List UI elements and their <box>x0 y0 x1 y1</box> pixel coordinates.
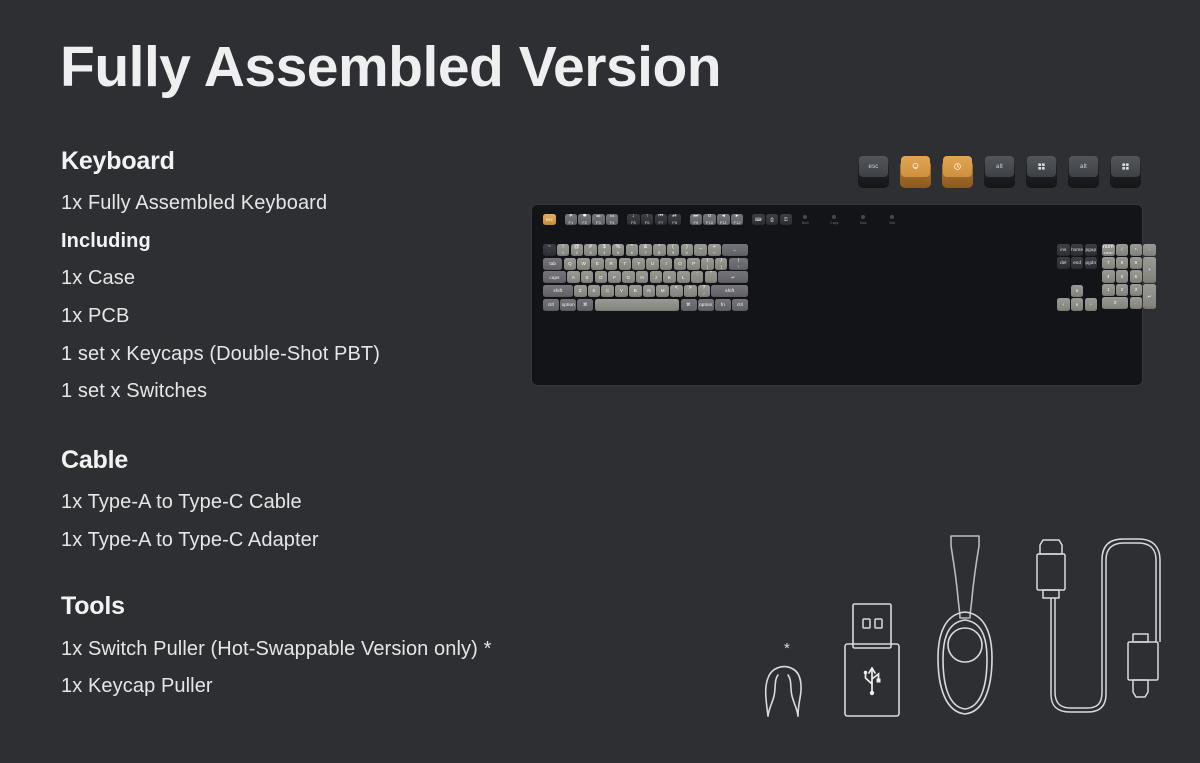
key-t[interactable]: T <box>619 258 632 270</box>
section-keyboard: Keyboard 1x Fully Assembled Keyboard Inc… <box>61 148 581 411</box>
key-legend-primary: ‹ <box>1062 302 1064 308</box>
key-x[interactable]: X <box>588 285 601 297</box>
windows-grid-icon <box>1111 156 1140 177</box>
key-legend-secondary: 7 <box>644 250 646 255</box>
key-legend-secondary: ' <box>710 278 711 283</box>
key-np-minus[interactable]: - <box>1143 244 1156 256</box>
spec-line: 1x PCB <box>61 298 581 336</box>
key-z[interactable]: Z <box>574 285 587 297</box>
key-legend-primary: E <box>596 261 599 267</box>
key-g[interactable]: G <box>622 271 635 283</box>
key-np-3[interactable]: 3 <box>1130 284 1143 296</box>
key-[interactable]: ⚿ <box>780 214 793 225</box>
key-legend-secondary: ` <box>549 250 550 255</box>
led-indicator-num: Num <box>797 215 813 225</box>
spec-line: 1x Type-A to Type-C Cable <box>61 484 581 522</box>
led-label: Num <box>797 221 813 225</box>
key-arrow-right[interactable]: › <box>1085 298 1098 310</box>
key-legend-secondary: 5 <box>617 250 619 255</box>
floating-keycaps-strip: esc alt <box>858 156 1141 188</box>
key-numlock[interactable]: numclear <box>1102 244 1115 256</box>
key-legend-primary: M <box>661 288 665 294</box>
key-j[interactable]: J <box>650 271 663 283</box>
spec-line: 1 set x Keycaps (Double-Shot PBT) <box>61 336 581 374</box>
key-legend-primary: Y <box>637 261 640 267</box>
key-legend-secondary: F9 <box>693 220 698 225</box>
spec-list: Keyboard 1x Fully Assembled Keyboard Inc… <box>61 148 581 706</box>
key-[interactable]: |\ <box>729 258 748 270</box>
key-arrow-left[interactable]: ‹ <box>1057 298 1070 310</box>
key-b[interactable]: B <box>629 285 642 297</box>
key-np-7[interactable]: 7 <box>1102 257 1115 269</box>
key-[interactable]: ▸F12 <box>731 214 744 225</box>
keycap-top-esc: esc <box>859 156 888 177</box>
key-legend-primary: ∨ <box>1075 302 1078 308</box>
key-[interactable]: _- <box>694 244 707 256</box>
key-legend-primary: shift <box>725 288 734 294</box>
key-p[interactable]: P <box>687 258 700 270</box>
key-del[interactable]: del <box>1057 257 1070 269</box>
key-k[interactable]: K <box>663 271 676 283</box>
key-legend-primary: pgdn <box>1085 260 1096 266</box>
led-dot-icon <box>832 215 836 219</box>
key-[interactable]: ?/ <box>698 285 711 297</box>
key-legend-primary: U <box>651 261 654 267</box>
led-label: Caps <box>826 221 842 225</box>
key-c[interactable]: C <box>601 285 614 297</box>
key-legend-primary: 2 <box>1121 287 1124 293</box>
key-arrow-down[interactable]: ∨ <box>1071 298 1084 310</box>
key-end[interactable]: end <box>1071 257 1084 269</box>
keycap-top-alt: alt <box>985 156 1014 177</box>
key-np-plus[interactable]: + <box>1143 257 1156 283</box>
key-np-period[interactable]: . <box>1130 297 1143 309</box>
key-[interactable]: ✹F2 <box>578 214 591 225</box>
key-legend-primary: › <box>1090 302 1092 308</box>
section-tools: Tools 1x Switch Puller (Hot-Swappable Ve… <box>61 593 581 705</box>
key-legend-primary: O <box>678 261 682 267</box>
key-np-8[interactable]: 8 <box>1116 257 1129 269</box>
key-[interactable]: ^6 <box>626 244 639 256</box>
key-legend-primary: C <box>606 288 609 294</box>
key-[interactable]: "' <box>705 271 718 283</box>
key-[interactable]: <, <box>670 285 683 297</box>
key-ctrl[interactable]: ctrl <box>543 299 559 311</box>
key-np-asterisk[interactable]: * <box>1130 244 1143 256</box>
key-legend-secondary: F4 <box>610 220 615 225</box>
backlight-icon <box>901 156 930 177</box>
key-[interactable]: )0 <box>681 244 694 256</box>
key-legend-secondary: 6 <box>631 250 633 255</box>
key-[interactable]: $4 <box>598 244 611 256</box>
accessory-illustrations <box>740 528 1165 723</box>
key-e[interactable]: E <box>591 258 604 270</box>
key-legend-secondary: 8 <box>658 250 660 255</box>
key-np-enter[interactable]: ↵ <box>1143 284 1156 310</box>
key-legend-secondary: ; <box>697 278 698 283</box>
key-m[interactable]: M <box>656 285 669 297</box>
key-o[interactable]: O <box>674 258 687 270</box>
key-legend-secondary: \ <box>738 264 739 269</box>
key-legend-primary: . <box>1135 300 1136 306</box>
key-legend-primary: R <box>609 261 612 267</box>
power-icon <box>943 156 972 177</box>
key-np-0[interactable]: 0 <box>1102 297 1128 309</box>
led-indicator-win: Win <box>884 215 900 225</box>
key-u[interactable]: U <box>646 258 659 270</box>
key-legend-primary: L <box>682 275 685 281</box>
keycap-puller-icon <box>760 638 820 718</box>
key-r[interactable]: R <box>605 258 618 270</box>
led-label: Win <box>884 221 900 225</box>
key-[interactable]: ◂F11 <box>717 214 730 225</box>
key-shift[interactable]: shift <box>543 285 573 297</box>
key-legend-primary: D <box>599 275 602 281</box>
key-legend-primary: ⌘ <box>686 302 691 308</box>
key-legend-primary: ctrl <box>737 302 744 308</box>
key-w[interactable]: W <box>577 258 590 270</box>
key-[interactable]: ᴏF10 <box>703 214 716 225</box>
key-[interactable]: ☰F3 <box>592 214 605 225</box>
usb-cable-icon <box>1026 532 1166 722</box>
key-legend-primary: ⚿ <box>784 217 788 223</box>
key-np-1[interactable]: 1 <box>1102 284 1115 296</box>
key-legend-primary: 4 <box>1107 274 1110 280</box>
key-np-5[interactable]: 5 <box>1116 270 1129 282</box>
key-legend-primary: ⌘ <box>583 302 588 308</box>
key-legend-primary: pgup <box>1085 247 1096 253</box>
key-[interactable]: @2 <box>571 244 584 256</box>
key-[interactable]: ☀F1 <box>565 214 578 225</box>
key-d[interactable]: D <box>595 271 608 283</box>
key-legend-primary: end <box>1073 260 1081 266</box>
key-legend-primary: 9 <box>1134 260 1137 266</box>
keyboard-layout: esc☀F1✹F2☰F3☷F4↓F5↑F6⏮F7⏯F8⏭F9ᴏF10◂F11▸F… <box>540 212 1134 378</box>
key-[interactable]: ⏯F8 <box>668 214 681 225</box>
key-[interactable]: ⏮F7 <box>655 214 668 225</box>
key-legend-primary: shift <box>553 288 562 294</box>
spec-line-including: Including <box>61 223 581 261</box>
section-heading-keyboard: Keyboard <box>61 148 581 174</box>
key-np-6[interactable]: 6 <box>1130 270 1143 282</box>
key-legend-secondary: = <box>713 250 715 255</box>
page-title: Fully Assembled Version <box>60 36 721 99</box>
key-arrow-up[interactable]: ∧ <box>1071 285 1084 297</box>
key-[interactable]: {[ <box>701 258 714 270</box>
keycap-top-alt: alt <box>1069 156 1098 177</box>
key-legend-secondary: F5 <box>631 220 636 225</box>
led-dot-icon <box>803 215 807 219</box>
key-s[interactable]: S <box>581 271 594 283</box>
key-esc[interactable]: esc <box>543 214 556 225</box>
floating-keycap-power <box>942 156 973 188</box>
key-[interactable]: ← <box>722 244 748 256</box>
key-[interactable]: &7 <box>639 244 652 256</box>
key-legend-secondary: , <box>676 291 677 296</box>
key-legend-primary: S <box>586 275 589 281</box>
key-legend-secondary: clear <box>1104 250 1113 255</box>
key-legend-secondary: . <box>690 291 691 296</box>
key-legend-primary: K <box>668 275 671 281</box>
key-legend-secondary: F10 <box>706 220 713 225</box>
key-shift[interactable]: shift <box>711 285 748 297</box>
footnote-asterisk: * <box>784 641 790 656</box>
floating-keycap-windows-2 <box>1110 156 1141 188</box>
key-blank[interactable] <box>595 299 680 311</box>
key-legend-primary: del <box>1060 260 1066 266</box>
key-legend-primary: tab <box>549 261 556 267</box>
key-[interactable]: (9 <box>667 244 680 256</box>
key-ins[interactable]: ins <box>1057 244 1070 256</box>
key-legend-primary: V <box>620 288 623 294</box>
key-legend-primary: / <box>1121 247 1122 253</box>
key-h[interactable]: H <box>636 271 649 283</box>
product-contents-page: Fully Assembled Version Keyboard 1x Full… <box>0 0 1200 763</box>
key-[interactable]: >. <box>684 285 697 297</box>
key-legend-secondary: 4 <box>603 250 605 255</box>
key-legend-primary: ⌨ <box>755 217 762 223</box>
spec-line: 1 set x Switches <box>61 373 581 411</box>
key-legend-primary: fn <box>721 302 725 308</box>
key-legend-primary: - <box>1149 247 1151 253</box>
key-legend-primary: H <box>640 275 643 281</box>
key-f[interactable]: F <box>608 271 621 283</box>
floating-keycap-windows-1 <box>1026 156 1057 188</box>
led-dot-icon <box>861 215 865 219</box>
key-legend-secondary: 2 <box>576 250 578 255</box>
key-legend-primary: option <box>699 302 712 308</box>
key-legend-primary: * <box>1135 247 1137 253</box>
key-[interactable]: ⌘ <box>681 299 697 311</box>
key-legend-primary: 8 <box>1121 260 1124 266</box>
key-legend-primary: 0 <box>1114 300 1117 306</box>
key-tab[interactable]: tab <box>543 258 562 270</box>
key-legend-primary: F <box>613 275 616 281</box>
key-legend-primary: P <box>692 261 695 267</box>
key-[interactable]: %5 <box>612 244 625 256</box>
key-np-slash[interactable]: / <box>1116 244 1129 256</box>
key-legend-primary: ⎙ <box>770 217 774 223</box>
key-legend-primary: J <box>655 275 657 281</box>
key-legend-secondary: 1 <box>562 250 564 255</box>
key-legend-secondary: F2 <box>582 220 587 225</box>
key-legend-primary: Q <box>568 261 572 267</box>
key-[interactable]: ~` <box>543 244 556 256</box>
spec-line: 1x Switch Puller (Hot-Swappable Version … <box>61 631 581 669</box>
key-legend-secondary: F11 <box>720 220 727 225</box>
key-legend-primary: X <box>592 288 595 294</box>
led-indicator-caps: Caps <box>826 215 842 225</box>
key-[interactable]: ↑F6 <box>641 214 654 225</box>
key-legend-secondary: 9 <box>672 250 674 255</box>
key-a[interactable]: A <box>567 271 580 283</box>
key-legend-primary: ctrl <box>548 302 555 308</box>
key-legend-primary: home <box>1071 247 1083 253</box>
key-legend-primary: 7 <box>1107 260 1110 266</box>
key-legend-primary: T <box>623 261 626 267</box>
key-[interactable]: }] <box>715 258 728 270</box>
floating-keycap-alt-2: alt <box>1068 156 1099 188</box>
key-i[interactable]: I <box>660 258 673 270</box>
key-n[interactable]: N <box>643 285 656 297</box>
key-legend-secondary: / <box>703 291 704 296</box>
led-indicator-mac: Mac <box>855 215 871 225</box>
key-legend-primary: 5 <box>1121 274 1124 280</box>
key-legend-primary: option <box>562 302 575 308</box>
key-legend-secondary: [ <box>707 264 708 269</box>
key-legend-secondary: ] <box>721 264 722 269</box>
key-legend-primary: ↵ <box>731 275 735 281</box>
key-np-9[interactable]: 9 <box>1130 257 1143 269</box>
key-legend-primary: ↵ <box>1148 294 1152 300</box>
key-np-2[interactable]: 2 <box>1116 284 1129 296</box>
key-q[interactable]: Q <box>564 258 577 270</box>
key-pgup[interactable]: pgup <box>1085 244 1098 256</box>
key-[interactable]: ⏭F9 <box>690 214 703 225</box>
key-[interactable]: ↓F5 <box>627 214 640 225</box>
spec-line: 1x Type-A to Type-C Adapter <box>61 522 581 560</box>
key-legend-primary: caps <box>549 275 559 281</box>
key-[interactable]: #3 <box>584 244 597 256</box>
key-caps[interactable]: caps <box>543 271 566 283</box>
key-legend-primary: ins <box>1060 247 1066 253</box>
keyboard-image: esc☀F1✹F2☰F3☷F4↓F5↑F6⏮F7⏯F8⏭F9ᴏF10◂F11▸F… <box>531 204 1143 386</box>
key-legend-secondary: 0 <box>686 250 688 255</box>
led-label: Mac <box>855 221 871 225</box>
key-[interactable]: ↵ <box>718 271 748 283</box>
spec-line: 1x Fully Assembled Keyboard <box>61 185 581 223</box>
key-legend-secondary: F6 <box>645 220 650 225</box>
key-[interactable]: ⌨ <box>752 214 765 225</box>
key-legend-primary: ← <box>733 247 738 253</box>
key-option[interactable]: option <box>560 299 576 311</box>
spec-line: 1x Case <box>61 260 581 298</box>
key-legend-primary: W <box>581 261 585 267</box>
switch-puller-icon <box>930 532 1000 720</box>
key-[interactable]: ⌘ <box>577 299 593 311</box>
windows-grid-icon <box>1027 156 1056 177</box>
led-indicator-row: NumCapsMacWin <box>797 215 900 225</box>
key-legend-primary: N <box>647 288 650 294</box>
key-l[interactable]: L <box>677 271 690 283</box>
key-[interactable]: += <box>708 244 721 256</box>
spec-line: 1x Keycap Puller <box>61 668 581 706</box>
key-legend-primary: ∧ <box>1075 288 1078 294</box>
key-legend-primary: Z <box>579 288 582 294</box>
key-pgdn[interactable]: pgdn <box>1085 257 1098 269</box>
key-legend-secondary: F7 <box>658 220 663 225</box>
key-y[interactable]: Y <box>632 258 645 270</box>
key-legend-secondary: F1 <box>568 220 573 225</box>
section-heading-cable: Cable <box>61 447 581 473</box>
floating-keycap-alt-1: alt <box>984 156 1015 188</box>
key-legend-primary: I <box>665 261 666 267</box>
key-fn[interactable]: fn <box>715 299 731 311</box>
key-[interactable]: :; <box>691 271 704 283</box>
key-legend-primary: + <box>1148 267 1151 273</box>
key-legend-primary: B <box>634 288 637 294</box>
key-[interactable]: ☷F4 <box>606 214 619 225</box>
key-[interactable]: ⎙ <box>766 214 779 225</box>
key-legend-secondary: F8 <box>672 220 677 225</box>
key-legend-primary: 3 <box>1134 287 1137 293</box>
key-legend-primary: 6 <box>1134 274 1137 280</box>
key-legend-secondary: F3 <box>596 220 601 225</box>
led-dot-icon <box>890 215 894 219</box>
usb-adapter-icon <box>840 600 904 720</box>
key-legend-primary: 1 <box>1107 287 1110 293</box>
key-home[interactable]: home <box>1071 244 1084 256</box>
key-[interactable]: *8 <box>653 244 666 256</box>
key-[interactable]: !1 <box>557 244 570 256</box>
key-legend-primary: A <box>572 275 575 281</box>
section-heading-tools: Tools <box>61 593 581 619</box>
key-legend-secondary: F12 <box>734 220 741 225</box>
key-v[interactable]: V <box>615 285 628 297</box>
floating-keycap-backlight <box>900 156 931 188</box>
key-ctrl[interactable]: ctrl <box>732 299 748 311</box>
key-option[interactable]: option <box>698 299 714 311</box>
section-cable: Cable 1x Type-A to Type-C Cable 1x Type-… <box>61 447 581 559</box>
floating-keycap-esc: esc <box>858 156 889 188</box>
key-legend-secondary: 3 <box>589 250 591 255</box>
key-legend-secondary: - <box>700 250 701 255</box>
key-legend-primary: G <box>627 275 631 281</box>
key-legend-primary: esc <box>546 217 553 223</box>
key-np-4[interactable]: 4 <box>1102 270 1115 282</box>
